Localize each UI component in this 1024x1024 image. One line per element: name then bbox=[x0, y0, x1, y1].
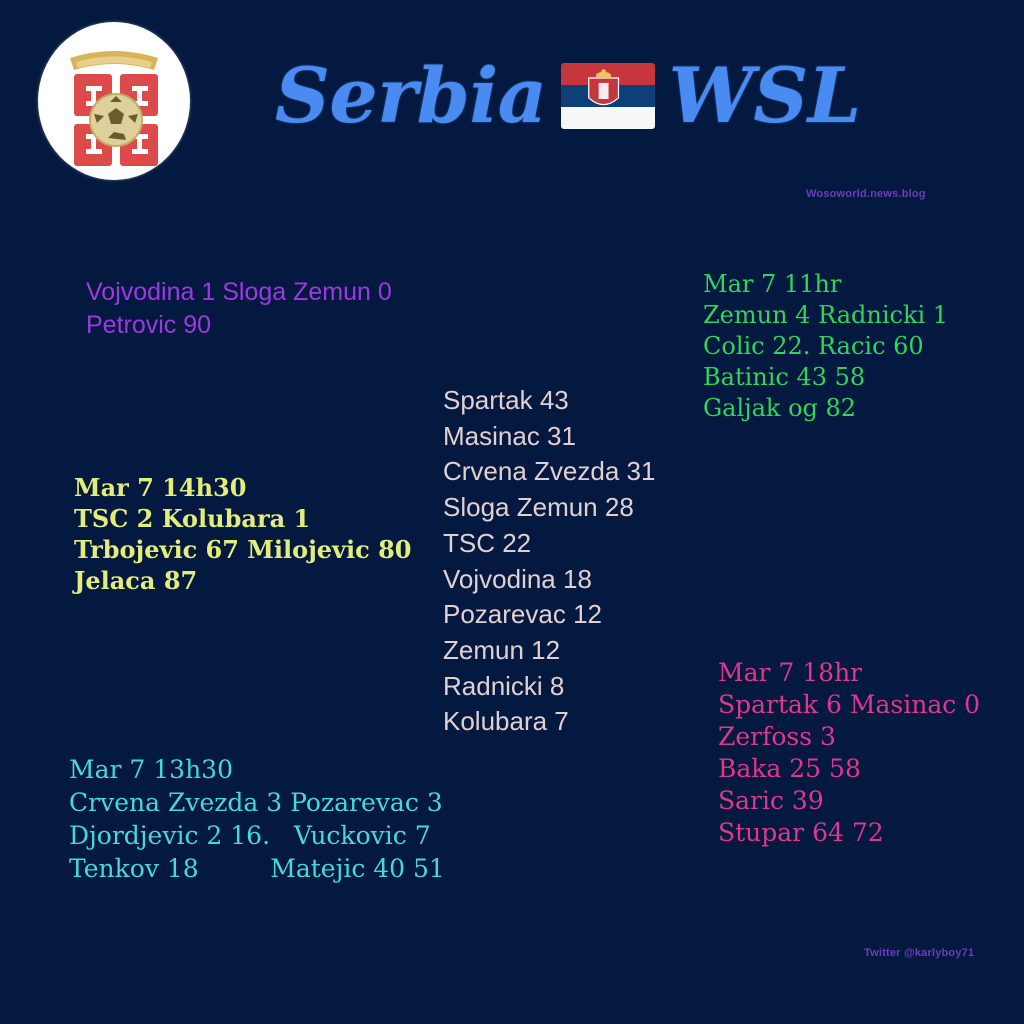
standings-row: Masinac 31 bbox=[443, 419, 655, 455]
match-line: Stupar 64 72 bbox=[718, 817, 980, 849]
match-line: Baka 25 58 bbox=[718, 753, 980, 785]
match-line: Colic 22. Racic 60 bbox=[703, 331, 948, 362]
match-block-crvena-zvezda-pozarevac: Mar 7 13h30Crvena Zvezda 3 Pozarevac 3Dj… bbox=[69, 753, 445, 885]
match-line: Mar 7 13h30 bbox=[69, 753, 445, 786]
match-line: Vojvodina 1 Sloga Zemun 0 bbox=[86, 276, 392, 309]
match-block-vojvodina-sloga-zemun: Vojvodina 1 Sloga Zemun 0Petrovic 90 bbox=[86, 276, 392, 342]
match-block-spartak-masinac: Mar 7 18hrSpartak 6 Masinac 0Zerfoss 3Ba… bbox=[718, 657, 980, 849]
standings-row: Crvena Zvezda 31 bbox=[443, 454, 655, 490]
match-line: Saric 39 bbox=[718, 785, 980, 817]
match-block-zemun-radnicki: Mar 7 11hrZemun 4 Radnicki 1Colic 22. Ra… bbox=[703, 269, 948, 424]
standings-row: Radnicki 8 bbox=[443, 669, 655, 705]
standings-row: Vojvodina 18 bbox=[443, 562, 655, 598]
match-line: Tenkov 18 Matejic 40 51 bbox=[69, 852, 445, 885]
standings-row: Spartak 43 bbox=[443, 383, 655, 419]
match-line: Batinic 43 58 bbox=[703, 362, 948, 393]
serbia-flag-icon bbox=[561, 63, 655, 129]
match-line: Petrovic 90 bbox=[86, 309, 392, 342]
blog-watermark: Wosoworld.news.blog bbox=[806, 188, 926, 200]
standings-row: Sloga Zemun 28 bbox=[443, 490, 655, 526]
standings-row: Kolubara 7 bbox=[443, 704, 655, 740]
match-block-tsc-kolubara: Mar 7 14h30TSC 2 Kolubara 1Trbojevic 67 … bbox=[74, 472, 411, 596]
graphic-canvas: Serbia WSL Wosoworld.news.blog Twitter @… bbox=[0, 0, 1024, 1024]
standings-row: Zemun 12 bbox=[443, 633, 655, 669]
standings-table: Spartak 43Masinac 31Crvena Zvezda 31Slog… bbox=[443, 383, 655, 740]
match-line: TSC 2 Kolubara 1 bbox=[74, 503, 411, 534]
standings-row: TSC 22 bbox=[443, 526, 655, 562]
page-title: Serbia WSL bbox=[275, 48, 861, 144]
title-word-wsl: WSL bbox=[669, 58, 861, 134]
match-line: Mar 7 18hr bbox=[718, 657, 980, 689]
serbia-football-federation-crest-icon bbox=[38, 22, 190, 180]
match-line: Mar 7 11hr bbox=[703, 269, 948, 300]
standings-row: Pozarevac 12 bbox=[443, 597, 655, 633]
match-line: Trbojevic 67 Milojevic 80 bbox=[74, 534, 411, 565]
title-word-serbia: Serbia bbox=[275, 58, 547, 134]
match-line: Zerfoss 3 bbox=[718, 721, 980, 753]
match-line: Crvena Zvezda 3 Pozarevac 3 bbox=[69, 786, 445, 819]
twitter-watermark: Twitter @karlyboy71 bbox=[864, 947, 974, 959]
match-line: Spartak 6 Masinac 0 bbox=[718, 689, 980, 721]
match-line: Jelaca 87 bbox=[74, 565, 411, 596]
match-line: Mar 7 14h30 bbox=[74, 472, 411, 503]
match-line: Zemun 4 Radnicki 1 bbox=[703, 300, 948, 331]
match-line: Galjak og 82 bbox=[703, 393, 948, 424]
match-line: Djordjevic 2 16. Vuckovic 7 bbox=[69, 819, 445, 852]
